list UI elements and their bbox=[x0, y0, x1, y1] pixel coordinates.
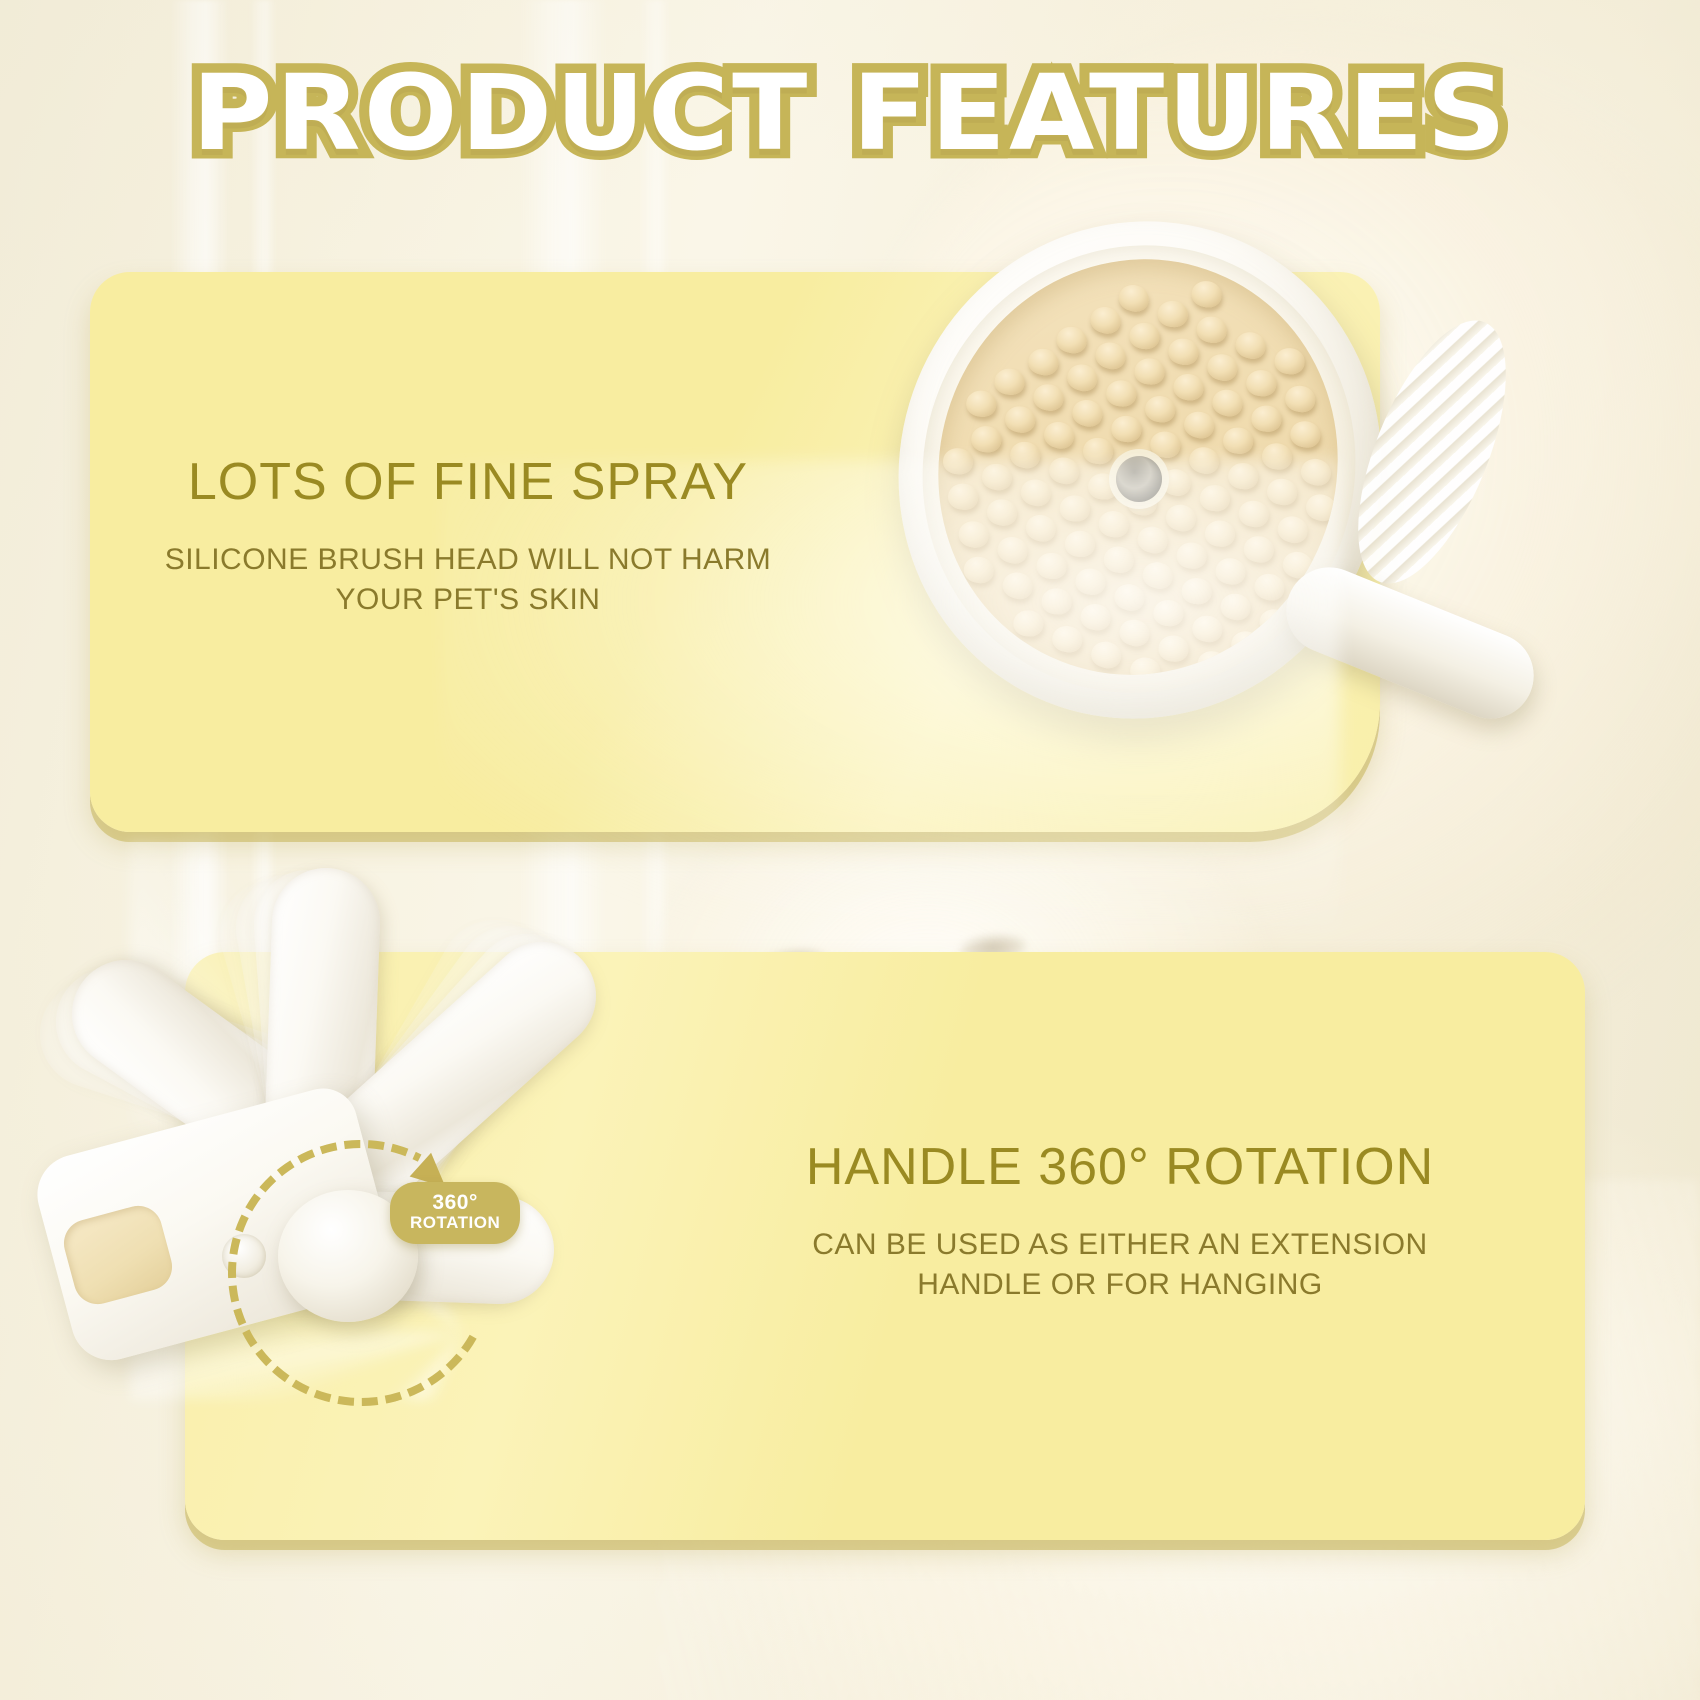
brush-bristle bbox=[985, 497, 1019, 528]
brush-bristle bbox=[1163, 501, 1199, 534]
brush-bristle bbox=[1087, 472, 1120, 501]
brush-bristle bbox=[1050, 623, 1084, 654]
brush-bristle bbox=[1260, 441, 1294, 472]
brush-bristle bbox=[947, 482, 980, 511]
brush-bristle bbox=[1040, 587, 1073, 616]
brush-bristle bbox=[1135, 523, 1171, 556]
feature-subtext-line-2: YOUR PET'S SKIN bbox=[118, 580, 818, 621]
brush-bristle bbox=[1110, 414, 1143, 443]
brush-bristle bbox=[1078, 601, 1112, 632]
brush-bristle bbox=[1195, 314, 1229, 345]
brush-bristle bbox=[1073, 566, 1107, 597]
brush-bristle bbox=[1026, 346, 1060, 377]
brush-bristle bbox=[1298, 455, 1334, 488]
brush-bristle bbox=[1088, 638, 1124, 671]
brush-bristle bbox=[1102, 544, 1136, 575]
brush-bristle bbox=[1069, 397, 1105, 430]
brush-bristle bbox=[1181, 577, 1214, 606]
brush-bristle bbox=[962, 554, 996, 585]
brush-bristle bbox=[1275, 513, 1311, 546]
feature-heading: LOTS OF FINE SPRAY bbox=[118, 455, 818, 510]
brush-bristle bbox=[1116, 282, 1152, 315]
brush-bristle bbox=[1204, 351, 1240, 384]
brush-bristle bbox=[1157, 634, 1190, 663]
brush-bristle bbox=[1265, 476, 1299, 507]
brush-bristle bbox=[1064, 361, 1100, 394]
brush-bristle bbox=[1031, 382, 1065, 413]
brush-bristle bbox=[1175, 541, 1208, 570]
brush-bristle bbox=[1055, 324, 1089, 355]
brush-bristle bbox=[993, 367, 1026, 396]
brush-bristle bbox=[1097, 508, 1131, 539]
product-features-poster: PRODUCT FEATURES LOTS OF FINE SPRAY SILI… bbox=[0, 0, 1700, 1700]
feature-subtext: CAN BE USED AS EITHER AN EXTENSION HANDL… bbox=[790, 1225, 1450, 1306]
handle-rotation-product-image: 360° ROTATION bbox=[10, 860, 770, 1500]
brush-bristle bbox=[1148, 429, 1182, 460]
brush-bristle bbox=[1190, 613, 1224, 644]
brush-bristle bbox=[1181, 408, 1217, 441]
rotation-badge: 360° ROTATION bbox=[390, 1182, 520, 1244]
brush-bristle bbox=[1117, 616, 1153, 649]
brush-bristle bbox=[1213, 556, 1247, 587]
brush-bristle bbox=[1190, 279, 1224, 310]
brush-bristle bbox=[1023, 511, 1059, 544]
brush-bristle bbox=[1008, 439, 1042, 470]
brush-bristle bbox=[1245, 369, 1278, 398]
brush-bristle bbox=[1237, 498, 1271, 529]
brush-bristle bbox=[1186, 444, 1222, 477]
brush-bristle bbox=[1288, 419, 1322, 450]
brush-bristle bbox=[1082, 436, 1115, 465]
brush-bristle bbox=[1242, 534, 1276, 565]
brush-bristle bbox=[1227, 462, 1260, 491]
brush-bristle bbox=[1059, 494, 1092, 523]
feature-subtext-line-1: CAN BE USED AS EITHER AN EXTENSION bbox=[790, 1225, 1450, 1266]
brush-bristle bbox=[1273, 347, 1306, 376]
brush-bristle bbox=[1003, 404, 1037, 435]
brush-bristle bbox=[1046, 454, 1082, 487]
feature-heading: HANDLE 360° ROTATION bbox=[790, 1140, 1450, 1195]
brush-bristle bbox=[1035, 551, 1068, 580]
brush-bristle bbox=[1000, 569, 1036, 602]
page-title: PRODUCT FEATURES bbox=[0, 52, 1700, 174]
brush-bristle bbox=[1140, 559, 1176, 592]
brush-bristle bbox=[995, 533, 1031, 566]
brush-bristle bbox=[1219, 591, 1253, 622]
brush-bristle bbox=[957, 519, 991, 550]
brush-bristle bbox=[1222, 426, 1255, 455]
brush-bristle bbox=[965, 389, 998, 418]
brush-bristle bbox=[1112, 581, 1148, 614]
brush-bristle bbox=[1041, 419, 1077, 452]
brush-bristle bbox=[980, 461, 1014, 492]
page-title-text: PRODUCT FEATURES bbox=[191, 52, 1508, 174]
rotation-badge-degrees: 360° bbox=[410, 1192, 500, 1214]
brush-head-product-image bbox=[880, 200, 1500, 780]
brush-bristle bbox=[1199, 484, 1232, 513]
brush-bristle bbox=[1088, 304, 1124, 337]
brush-bristle bbox=[1105, 379, 1138, 408]
brush-bristle bbox=[1233, 329, 1269, 362]
brush-bristle bbox=[1143, 394, 1177, 425]
brush-bristle bbox=[1157, 299, 1190, 328]
feature-subtext: SILICONE BRUSH HEAD WILL NOT HARM YOUR P… bbox=[118, 540, 818, 621]
brush-bristle bbox=[1018, 476, 1054, 509]
brush-bristle bbox=[1133, 357, 1166, 386]
brush-bristle bbox=[1093, 339, 1129, 372]
brush-bristle bbox=[1064, 529, 1097, 558]
feature-text-fine-spray: LOTS OF FINE SPRAY SILICONE BRUSH HEAD W… bbox=[118, 455, 818, 621]
brush-bristle bbox=[1166, 336, 1200, 367]
brush-bristle bbox=[970, 425, 1003, 454]
rotation-badge-label: ROTATION bbox=[410, 1214, 500, 1232]
brush-bristle bbox=[1283, 383, 1317, 414]
brush-bristle bbox=[1012, 609, 1045, 638]
feature-text-handle-rotation: HANDLE 360° ROTATION CAN BE USED AS EITH… bbox=[790, 1140, 1450, 1306]
brush-bristle bbox=[1152, 599, 1185, 628]
brush-bristle bbox=[942, 447, 975, 476]
brush-bristle bbox=[1128, 321, 1161, 350]
brush-bristle bbox=[1171, 372, 1205, 403]
brush-bristle bbox=[1204, 519, 1237, 548]
feature-subtext-line-1: SILICONE BRUSH HEAD WILL NOT HARM bbox=[118, 540, 818, 581]
brush-bristle bbox=[1210, 386, 1246, 419]
spray-nozzle-icon bbox=[1116, 456, 1162, 502]
brush-bristle bbox=[1252, 570, 1288, 603]
feature-subtext-line-2: HANDLE OR FOR HANGING bbox=[790, 1265, 1450, 1306]
brush-bristle bbox=[1250, 404, 1283, 433]
brush-bristle bbox=[1158, 466, 1194, 499]
